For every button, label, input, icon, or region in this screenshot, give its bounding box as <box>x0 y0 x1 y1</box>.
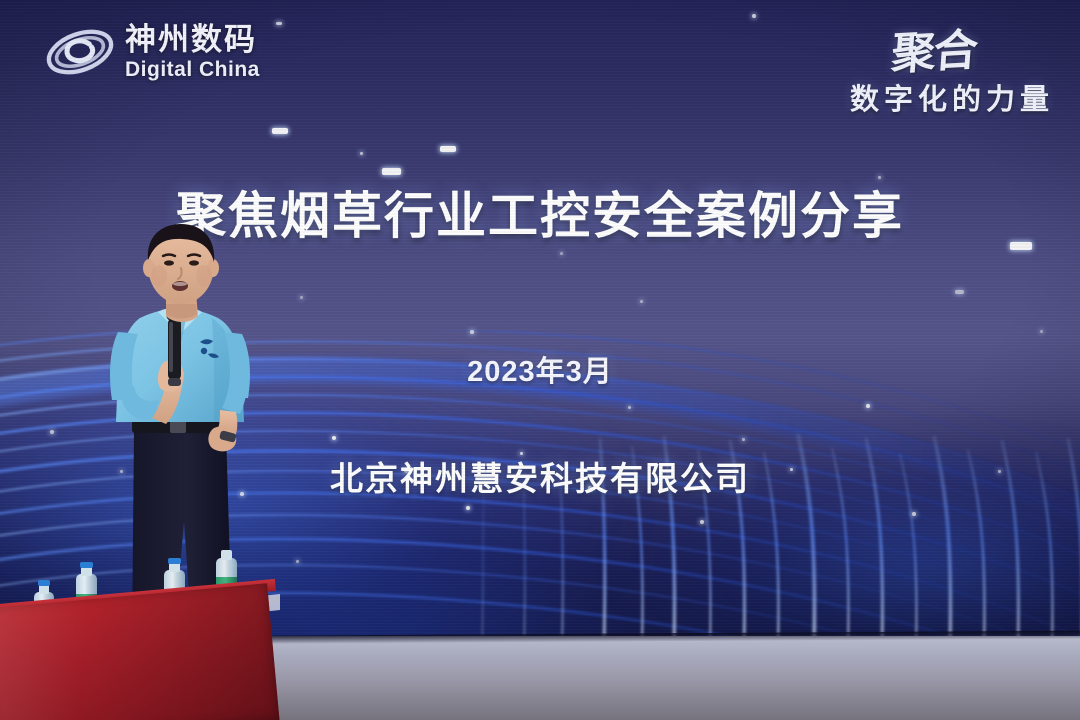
digital-china-swirl-logo <box>44 18 116 86</box>
event-slogan-subtitle: 数字化的力量 <box>850 76 1054 118</box>
brand-name-en: Digital China <box>125 59 260 80</box>
panel-table <box>0 583 280 720</box>
digital-china-brand-lockup: 神州数码 Digital China <box>44 18 260 86</box>
conference-stage-photo: 神州数码 Digital China 聚合 数字化的力量 聚焦烟草行业工控安全案… <box>0 0 1080 720</box>
event-calligraphy-title: 聚合 <box>890 14 979 82</box>
event-slogan-lockup: 聚合 数字化的力量 <box>850 16 1054 118</box>
brand-name-cn: 神州数码 <box>125 24 260 55</box>
